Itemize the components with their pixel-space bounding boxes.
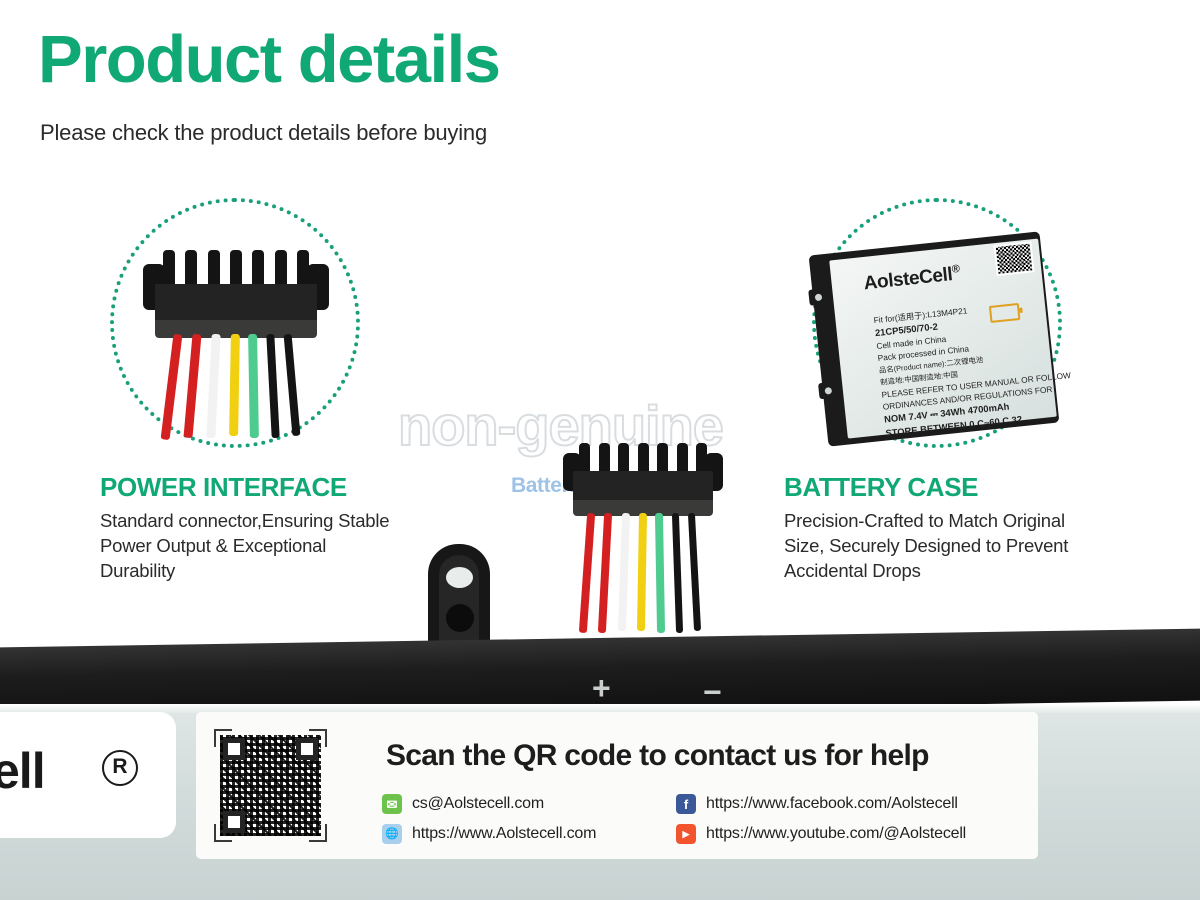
connector-teeth: [155, 250, 317, 288]
connector-wires: [155, 334, 317, 440]
wire-green: [655, 513, 665, 633]
connector-base: [573, 471, 713, 503]
wire-black-2: [688, 513, 701, 631]
connector-wires: [573, 513, 713, 633]
contact-website-text: https://www.Aolstecell.com: [412, 825, 596, 843]
bracket-screw-hole: [446, 567, 473, 588]
wire-red-1: [161, 334, 183, 440]
contact-info-card: Scan the QR code to contact us for help …: [196, 712, 1038, 859]
wire-black-1: [672, 513, 683, 633]
wire-white: [206, 334, 220, 438]
polarity-positive-marker: +: [592, 672, 611, 704]
wire-black-1: [266, 334, 279, 438]
contact-line-website[interactable]: 🌐 https://www.Aolstecell.com: [382, 820, 596, 848]
brand-label-text: ell: [0, 742, 45, 800]
contact-heading: Scan the QR code to contact us for help: [386, 739, 929, 773]
center-connector-image: [573, 443, 713, 633]
connector-base: [155, 284, 317, 324]
contact-email-text: cs@Aolstecell.com: [412, 795, 544, 813]
contact-column-left: ✉ cs@Aolstecell.com 🌐 https://www.Aolste…: [382, 790, 596, 850]
battery-label: AolsteCell® Fit for(适用于):L13M4P21 21CP5/…: [829, 239, 1057, 439]
wire-white: [618, 513, 630, 631]
facebook-icon: f: [676, 794, 696, 814]
wire-yellow: [637, 513, 647, 631]
wire-red-2: [183, 334, 201, 438]
wire-red-2: [598, 513, 612, 633]
battery-label-brand: AolsteCell®: [863, 263, 961, 295]
registered-mark-icon: R: [102, 750, 138, 786]
contact-line-facebook[interactable]: f https://www.facebook.com/Aolstecell: [676, 790, 958, 818]
youtube-icon: ▶: [676, 824, 696, 844]
feature-body-battery-case: Precision-Crafted to Match Original Size…: [784, 508, 1104, 583]
feature-title-battery-case: BATTERY CASE: [784, 472, 978, 503]
wire-green: [248, 334, 259, 438]
bracket-lower-hole: [446, 604, 474, 632]
wire-yellow: [229, 334, 240, 436]
battery-case-image: AolsteCell® Fit for(适用于):L13M4P21 21CP5/…: [809, 231, 1060, 446]
contact-line-youtube[interactable]: ▶ https://www.youtube.com/@Aolstecell: [676, 820, 966, 848]
polarity-negative-marker: −: [703, 676, 722, 708]
qr-code-icon[interactable]: [214, 729, 327, 842]
contact-column-right: f https://www.facebook.com/Aolstecell ▶ …: [676, 790, 966, 850]
feature-title-power-interface: POWER INTERFACE: [100, 472, 347, 503]
mounting-bracket-image: [428, 544, 490, 644]
wire-black-2: [284, 334, 301, 436]
feature-body-power-interface: Standard connector,Ensuring Stable Power…: [100, 508, 400, 583]
page-subtitle: Please check the product details before …: [40, 120, 487, 146]
battery-brand-label: ell R: [0, 712, 176, 838]
contact-facebook-text: https://www.facebook.com/Aolstecell: [706, 795, 958, 813]
page-title: Product details: [38, 26, 499, 93]
power-connector-image: [155, 250, 317, 440]
globe-icon: 🌐: [382, 824, 402, 844]
product-details-page: Product details Please check the product…: [0, 0, 1200, 900]
mail-icon: ✉: [382, 794, 402, 814]
wire-red-1: [579, 513, 595, 633]
registered-mark-icon: ®: [951, 263, 960, 276]
contact-line-email[interactable]: ✉ cs@Aolstecell.com: [382, 790, 544, 818]
contact-youtube-text: https://www.youtube.com/@Aolstecell: [706, 825, 966, 843]
battery-label-spec-lines: Fit for(适用于):L13M4P21 21CP5/50/70-2 Cell…: [873, 295, 1067, 441]
battery-label-qr-icon: [994, 241, 1035, 276]
battery-mount-tab-bottom: [818, 381, 840, 399]
battery-mount-tab-top: [808, 288, 830, 306]
